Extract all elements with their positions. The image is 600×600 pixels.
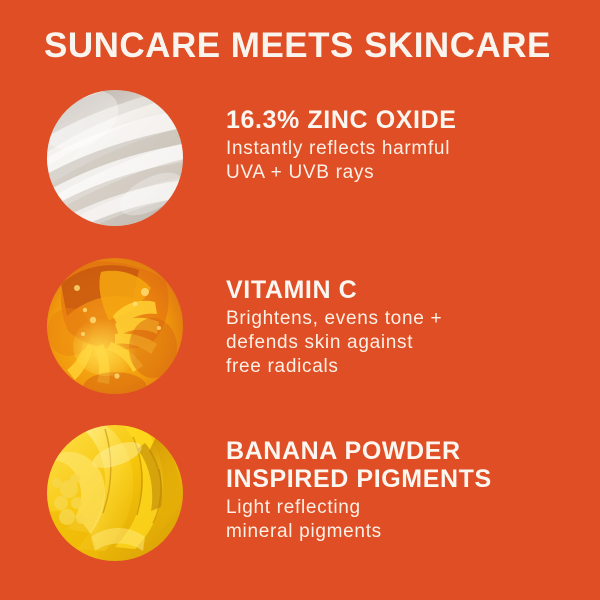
page-title: SUNCARE MEETS SKINCARE bbox=[44, 27, 564, 65]
feature-description: Instantly reflects harmful UVA + UVB ray… bbox=[226, 137, 594, 185]
feature-text-block: VITAMIN C Brightens, evens tone + defend… bbox=[226, 276, 594, 379]
vitamin-c-citrus-swatch bbox=[47, 258, 183, 394]
feature-row: 16.3% ZINC OXIDE Instantly reflects harm… bbox=[0, 88, 600, 228]
feature-row: VITAMIN C Brightens, evens tone + defend… bbox=[0, 256, 600, 396]
feature-text-block: BANANA POWDER INSPIRED PIGMENTS Light re… bbox=[226, 437, 594, 544]
feature-description: Brightens, evens tone + defends skin aga… bbox=[226, 307, 594, 379]
feature-description: Light reflecting mineral pigments bbox=[226, 496, 594, 544]
feature-title: VITAMIN C bbox=[226, 276, 594, 304]
banana-powder-swatch bbox=[47, 425, 183, 561]
feature-title: BANANA POWDER INSPIRED PIGMENTS bbox=[226, 437, 594, 493]
feature-text-block: 16.3% ZINC OXIDE Instantly reflects harm… bbox=[226, 106, 594, 185]
poster-canvas: SUNCARE MEETS SKINCARE bbox=[0, 0, 600, 600]
feature-row: BANANA POWDER INSPIRED PIGMENTS Light re… bbox=[0, 423, 600, 563]
zinc-oxide-cream-swatch bbox=[47, 90, 183, 226]
feature-title: 16.3% ZINC OXIDE bbox=[226, 106, 594, 134]
